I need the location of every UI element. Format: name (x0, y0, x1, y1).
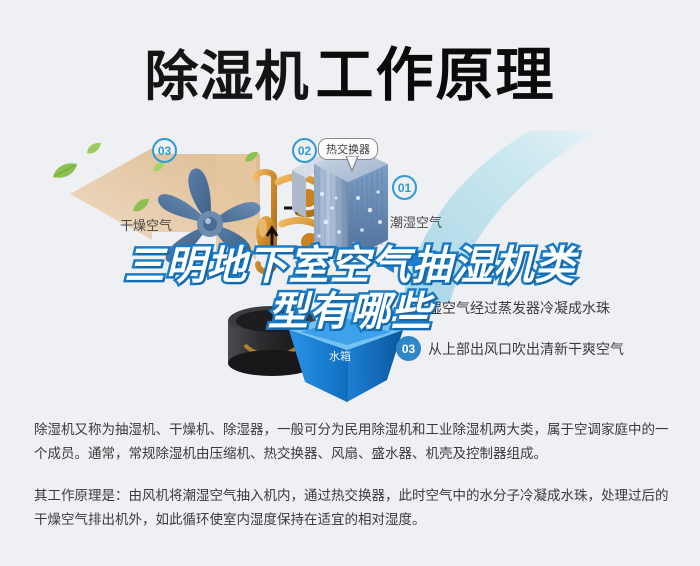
step-badge-02-list: 02 (396, 295, 421, 320)
callout-pointer-icon (345, 156, 359, 172)
principle-diagram: 01 02 03 热交换器 潮湿空气 干燥空气 水箱 02 湿空气经过蒸发器冷凝… (0, 120, 700, 400)
title-part-two: 工作原理 (315, 41, 555, 109)
step-text: 从上部出风口吹出清新干爽空气 (428, 339, 624, 359)
list-item: 02 湿空气经过蒸发器冷凝成水珠 (396, 295, 696, 320)
paragraph-1: 除湿机又称为抽湿机、干燥机、除湿器，一般可分为民用除湿机和工业除湿机两大类，属于… (34, 418, 674, 466)
label-dry-air: 干燥空气 (120, 215, 172, 234)
step-badge-01: 01 (392, 175, 417, 200)
heat-exchanger-icon (292, 148, 392, 273)
leaf-icon (86, 142, 102, 160)
step-badge-03-list: 03 (396, 336, 421, 361)
list-item: 03 从上部出风口吹出清新干爽空气 (396, 336, 696, 361)
infographic-page: 除湿机工作原理 (0, 0, 700, 566)
step-badge-02: 02 (292, 138, 317, 163)
leaf-icon (52, 162, 78, 185)
label-water-tank: 水箱 (329, 348, 351, 364)
paragraph-2: 其工作原理是：由风机将潮湿空气抽入机内，通过热交换器，此时空气中的水分子冷凝成水… (34, 484, 674, 532)
humid-air-swoosh-icon (402, 125, 700, 310)
title-part-one: 除湿机 (144, 45, 309, 108)
page-title: 除湿机工作原理 (0, 28, 700, 112)
step-text: 湿空气经过蒸发器冷凝成水珠 (428, 298, 610, 318)
step-list: 02 湿空气经过蒸发器冷凝成水珠 03 从上部出风口吹出清新干爽空气 (396, 295, 696, 377)
step-badge-03: 03 (152, 138, 177, 163)
article-body: 除湿机又称为抽湿机、干燥机、除湿器，一般可分为民用除湿机和工业除湿机两大类，属于… (34, 418, 674, 532)
label-humid-air: 潮湿空气 (390, 212, 442, 231)
